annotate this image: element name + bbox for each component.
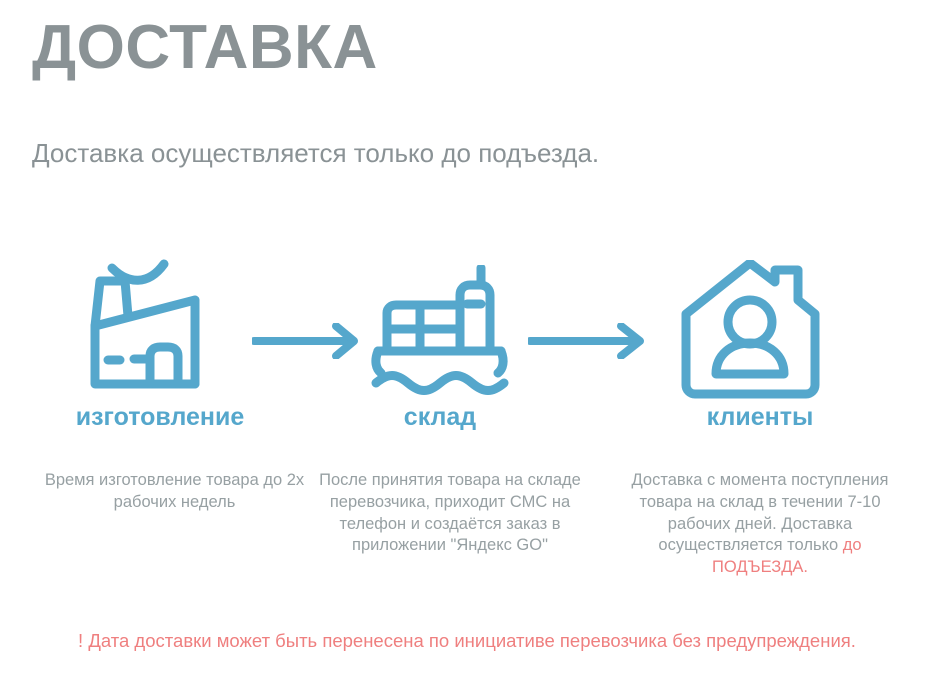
factory-icon bbox=[90, 250, 230, 400]
stage-descriptions: Время изготовление товара до 2х рабочих … bbox=[0, 470, 934, 600]
stage-label-clients: клиенты bbox=[645, 403, 875, 432]
stage-icon-warehouse bbox=[360, 245, 520, 400]
delivery-flow bbox=[0, 245, 934, 400]
stage-icon-manufacturing bbox=[80, 245, 240, 400]
cargo-ship-icon bbox=[368, 265, 513, 400]
stage-description-warehouse: После принятия товара на складе перевозч… bbox=[305, 470, 595, 557]
house-person-icon bbox=[678, 260, 823, 400]
stage-description-manufacturing: Время изготовление товара до 2х рабочих … bbox=[42, 470, 307, 514]
stage-labels: изготовление склад клиенты bbox=[0, 403, 934, 439]
footer-warning: ! Дата доставки может быть перенесена по… bbox=[47, 628, 887, 654]
arrow-manufacturing-to-warehouse bbox=[252, 323, 364, 359]
stage-label-warehouse: склад bbox=[330, 403, 550, 432]
arrow-warehouse-to-clients bbox=[528, 323, 650, 359]
stage-icon-clients bbox=[670, 245, 830, 400]
delivery-slide: ДОСТАВКА Доставка осуществляется только … bbox=[0, 0, 934, 700]
page-subtitle: Доставка осуществляется только до подъез… bbox=[32, 136, 652, 172]
stage-label-manufacturing: изготовление bbox=[45, 403, 275, 432]
page-title: ДОСТАВКА bbox=[32, 12, 378, 83]
stage-description-clients: Доставка с момента поступления товара на… bbox=[615, 470, 905, 579]
